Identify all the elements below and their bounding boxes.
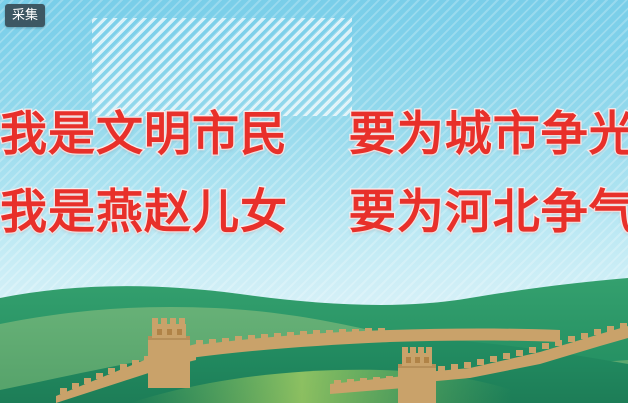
- landscape-illustration: [0, 268, 628, 403]
- slogan-line-1-left: 我是文明市民: [0, 107, 288, 162]
- slogan-line-1: 我是文明市民 要为城市争光: [0, 96, 628, 174]
- slogan-line-1-right: 要为城市争光: [349, 107, 628, 162]
- tower-right-base: [398, 364, 436, 403]
- tower-right-windows: [406, 357, 429, 363]
- tower-left-windows: [157, 329, 182, 335]
- slogan-text-block: 我是文明市民 要为城市争光 我是燕赵儿女 要为河北争气: [0, 96, 628, 252]
- tower-left-base: [148, 336, 190, 388]
- capture-button[interactable]: 采集: [5, 4, 45, 27]
- banner-image: 我是文明市民 要为城市争光 我是燕赵儿女 要为河北争气: [0, 0, 628, 403]
- slogan-line-2-left: 我是燕赵儿女: [0, 185, 288, 240]
- slogan-line-2-right: 要为河北争气: [349, 185, 628, 240]
- slogan-line-2: 我是燕赵儿女 要为河北争气: [0, 174, 628, 252]
